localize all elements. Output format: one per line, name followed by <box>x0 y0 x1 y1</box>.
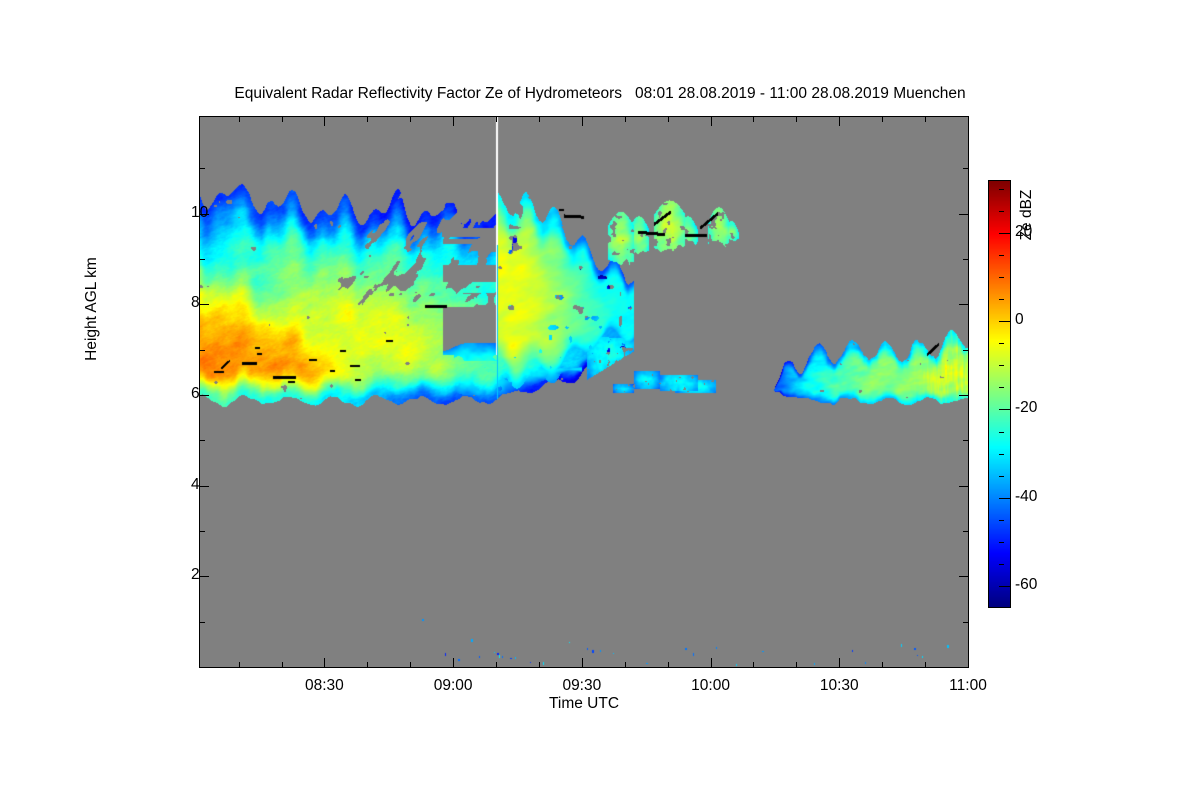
x-major-tick-top <box>324 117 325 126</box>
colorbar-tick <box>999 476 1004 477</box>
x-major-tick-top <box>711 117 712 126</box>
x-minor-tick-top <box>796 117 797 122</box>
x-tick-label: 09:30 <box>562 677 601 695</box>
x-minor-tick <box>925 662 926 667</box>
x-minor-tick-top <box>668 117 669 122</box>
colorbar-tick <box>999 321 1010 322</box>
y-minor-tick <box>200 168 205 169</box>
figure-title: Equivalent Radar Reflectivity Factor Ze … <box>0 85 1200 103</box>
colorbar-tick <box>999 586 1010 587</box>
colorbar-label: Ze dBZ <box>1018 125 1036 305</box>
y-major-tick-right <box>959 214 968 215</box>
y-major-tick <box>200 395 209 396</box>
x-minor-tick <box>282 662 283 667</box>
y-major-tick <box>200 304 209 305</box>
y-minor-tick <box>200 531 205 532</box>
y-minor-tick-right <box>963 259 968 260</box>
x-minor-tick <box>668 662 669 667</box>
x-tick-label: 10:30 <box>820 677 859 695</box>
colorbar <box>988 180 1011 608</box>
colorbar-tick-label: 0 <box>1015 311 1024 329</box>
colorbar-tick <box>999 277 1004 278</box>
colorbar-tick-label: -20 <box>1015 399 1037 417</box>
colorbar-tick <box>999 189 1004 190</box>
y-major-tick-right <box>959 304 968 305</box>
x-major-tick <box>453 658 454 667</box>
reflectivity-heatmap <box>200 117 968 667</box>
x-major-tick-top <box>839 117 840 126</box>
x-minor-tick <box>239 662 240 667</box>
x-major-tick <box>839 658 840 667</box>
y-minor-tick-right <box>963 350 968 351</box>
x-minor-tick <box>496 662 497 667</box>
x-minor-tick <box>539 662 540 667</box>
x-minor-tick <box>882 662 883 667</box>
x-major-tick-top <box>582 117 583 126</box>
y-major-tick-right <box>959 486 968 487</box>
y-minor-tick-right <box>963 622 968 623</box>
plot-area <box>199 116 969 668</box>
colorbar-tick-label: -60 <box>1015 576 1037 594</box>
x-tick-label: 10:00 <box>691 677 730 695</box>
y-minor-tick-right <box>963 168 968 169</box>
x-minor-tick-top <box>496 117 497 122</box>
y-major-tick <box>200 576 209 577</box>
x-major-tick-top <box>453 117 454 126</box>
colorbar-tick <box>999 233 1010 234</box>
y-minor-tick-right <box>963 440 968 441</box>
colorbar-tick <box>999 498 1010 499</box>
x-minor-tick-top <box>410 117 411 122</box>
y-minor-tick <box>200 440 205 441</box>
colorbar-tick <box>999 211 1004 212</box>
x-major-tick <box>582 658 583 667</box>
x-tick-label: 09:00 <box>434 677 473 695</box>
colorbar-tick <box>999 387 1004 388</box>
x-minor-tick-top <box>882 117 883 122</box>
x-major-tick <box>968 658 969 667</box>
radar-reflectivity-figure: Equivalent Radar Reflectivity Factor Ze … <box>0 0 1200 800</box>
x-minor-tick-top <box>239 117 240 122</box>
x-minor-tick-top <box>753 117 754 122</box>
colorbar-tick <box>999 409 1010 410</box>
x-minor-tick <box>367 662 368 667</box>
colorbar-tick <box>999 432 1004 433</box>
x-axis-label: Time UTC <box>199 695 969 713</box>
x-minor-tick <box>625 662 626 667</box>
y-minor-tick <box>200 350 205 351</box>
colorbar-tick <box>999 520 1004 521</box>
y-major-tick-right <box>959 576 968 577</box>
colorbar-tick <box>999 365 1004 366</box>
y-minor-tick <box>200 622 205 623</box>
x-major-tick <box>324 658 325 667</box>
colorbar-tick-label: -40 <box>1015 488 1037 506</box>
x-minor-tick-top <box>925 117 926 122</box>
x-minor-tick <box>753 662 754 667</box>
x-minor-tick-top <box>539 117 540 122</box>
colorbar-tick <box>999 255 1004 256</box>
colorbar-tick <box>999 343 1004 344</box>
y-minor-tick-right <box>963 531 968 532</box>
colorbar-tick <box>999 564 1004 565</box>
x-minor-tick-top <box>367 117 368 122</box>
y-axis-label: Height AGL km <box>83 199 101 419</box>
x-tick-label: 08:30 <box>305 677 344 695</box>
x-tick-label: 11:00 <box>949 677 987 695</box>
y-minor-tick <box>200 259 205 260</box>
x-major-tick-top <box>968 117 969 126</box>
colorbar-tick <box>999 299 1004 300</box>
colorbar-gradient <box>989 181 1010 607</box>
x-major-tick <box>711 658 712 667</box>
colorbar-tick <box>999 542 1004 543</box>
y-major-tick-right <box>959 395 968 396</box>
x-minor-tick <box>410 662 411 667</box>
x-minor-tick-top <box>282 117 283 122</box>
x-minor-tick-top <box>625 117 626 122</box>
x-minor-tick <box>796 662 797 667</box>
colorbar-tick <box>999 454 1004 455</box>
y-major-tick <box>200 486 209 487</box>
